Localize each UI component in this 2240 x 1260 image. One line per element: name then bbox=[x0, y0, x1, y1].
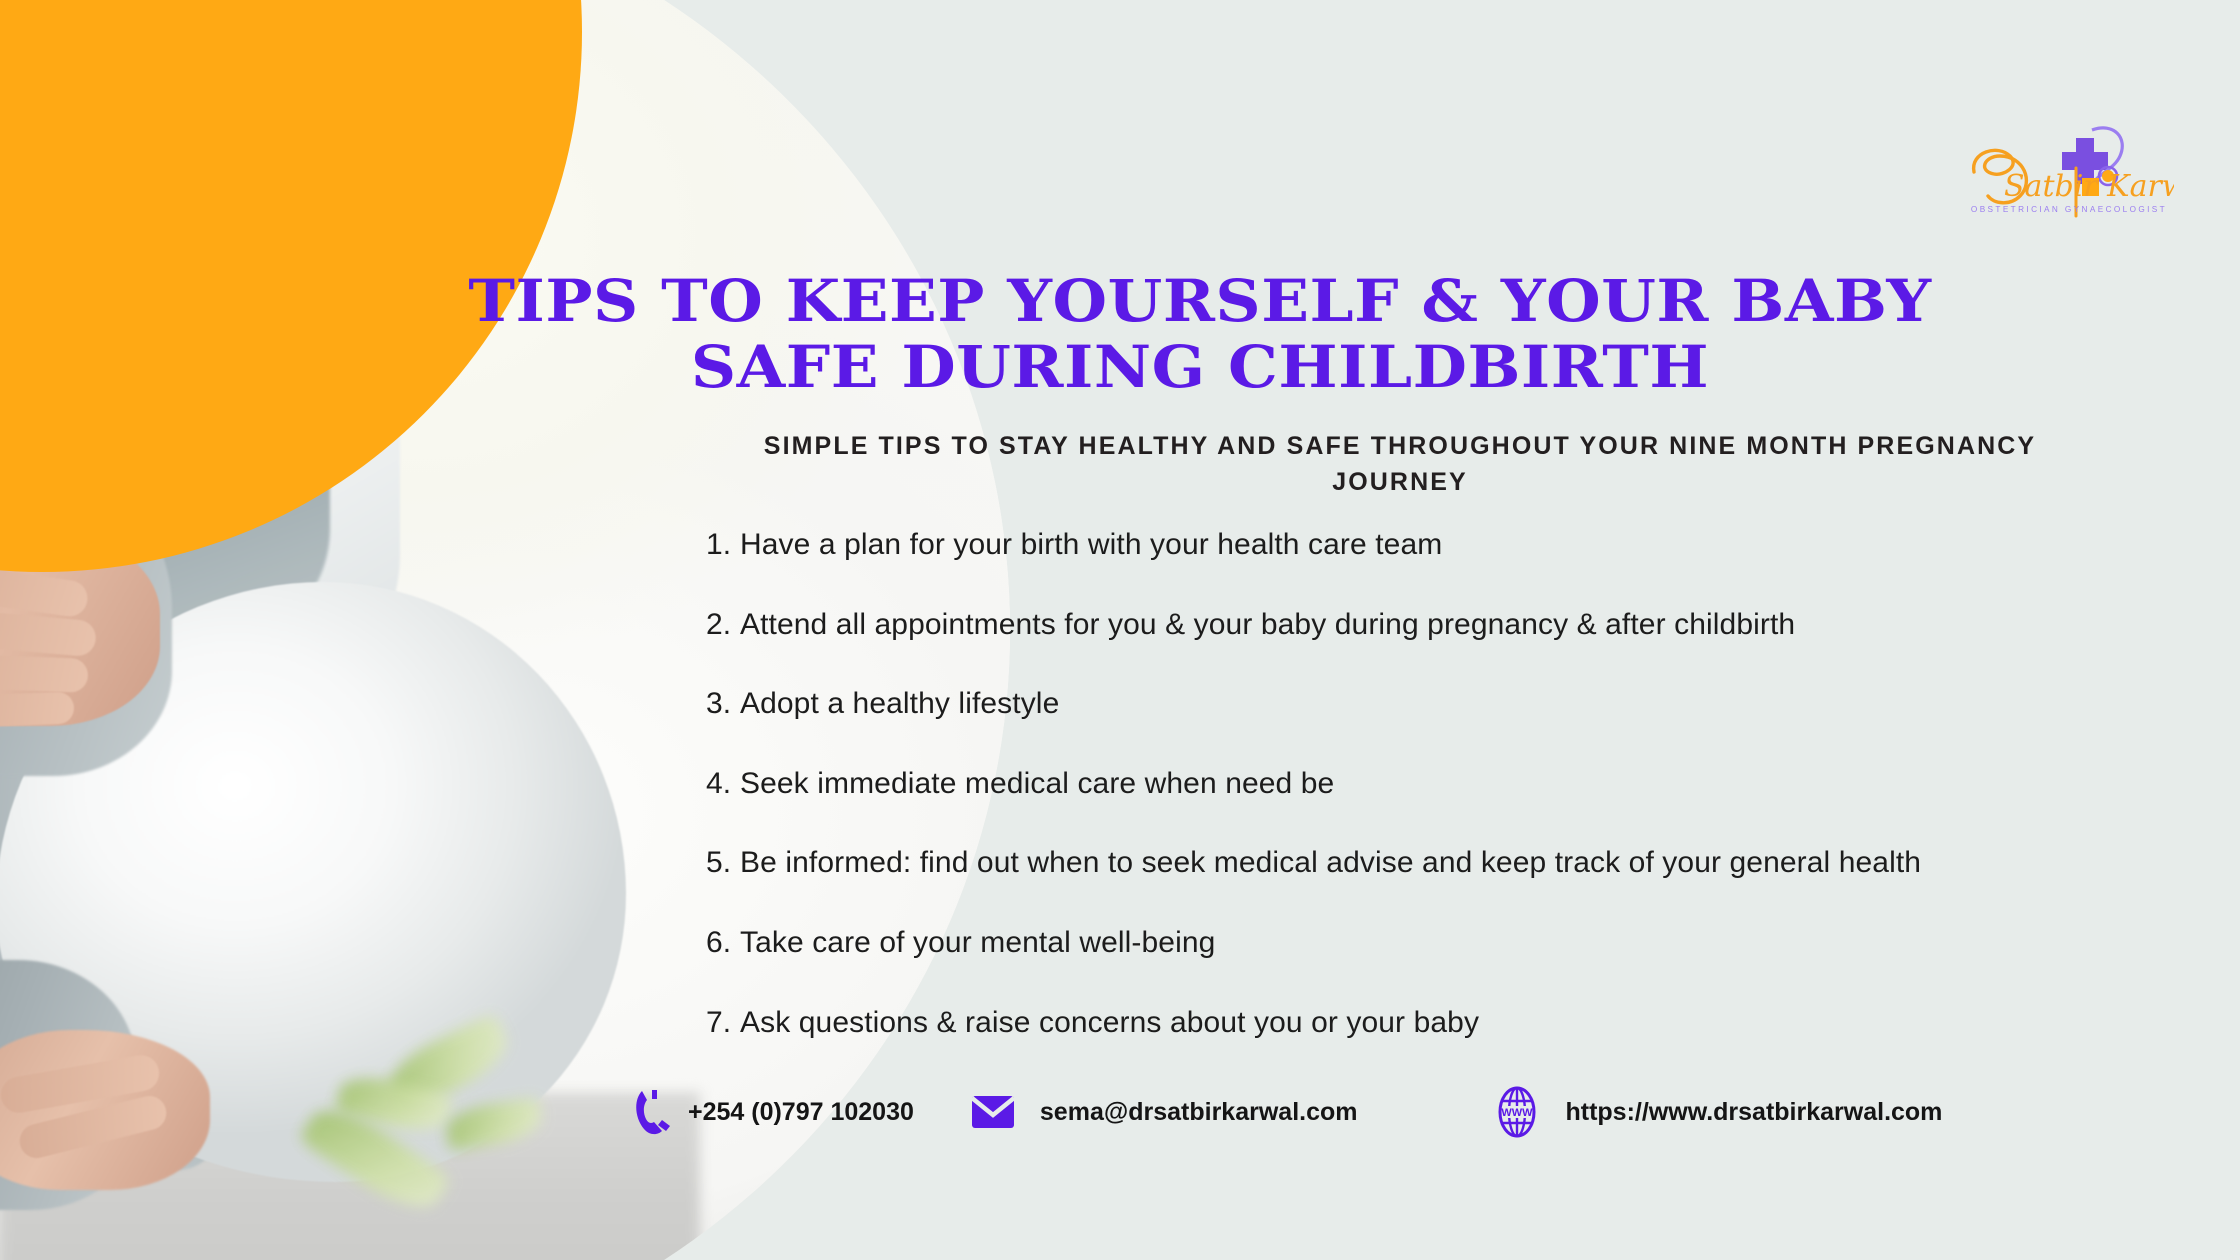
list-item: Take care of your mental well-being bbox=[706, 920, 2026, 966]
phone-icon bbox=[630, 1087, 674, 1137]
photo-finger bbox=[0, 653, 89, 693]
list-item: Seek immediate medical care when need be bbox=[706, 761, 2026, 807]
logo-brand-name: Satbir Karwal bbox=[2004, 169, 2174, 204]
page-title: TIPS TO KEEP YOURSELF & YOUR BABY SAFE D… bbox=[379, 268, 2021, 400]
contact-bar: +254 (0)797 102030 sema@drsatbirkarwal.c… bbox=[630, 1086, 1942, 1138]
contact-website[interactable]: WWW https://www.drsatbirkarwal.com bbox=[1491, 1086, 1942, 1138]
website-url: https://www.drsatbirkarwal.com bbox=[1565, 1098, 1942, 1127]
tips-list: Have a plan for your birth with your hea… bbox=[706, 522, 2026, 1079]
phone-number: +254 (0)797 102030 bbox=[688, 1098, 914, 1127]
list-item: Ask questions & raise concerns about you… bbox=[706, 1000, 2026, 1046]
contact-email[interactable]: sema@drsatbirkarwal.com bbox=[968, 1087, 1358, 1137]
photo-finger bbox=[0, 692, 75, 729]
envelope-icon bbox=[968, 1087, 1018, 1137]
brand-logo: Satbir Karwal OBSTETRICIAN GYNAECOLOGIST bbox=[1964, 112, 2174, 222]
globe-www-label: WWW bbox=[1502, 1107, 1534, 1119]
email-address: sema@drsatbirkarwal.com bbox=[1040, 1098, 1358, 1127]
list-item: Attend all appointments for you & your b… bbox=[706, 602, 2026, 648]
list-item: Adopt a healthy lifestyle bbox=[706, 681, 2026, 727]
poster-canvas: Satbir Karwal OBSTETRICIAN GYNAECOLOGIST… bbox=[0, 0, 2240, 1260]
list-item: Have a plan for your birth with your hea… bbox=[706, 522, 2026, 568]
globe-icon: WWW bbox=[1491, 1086, 1543, 1138]
list-item: Be informed: find out when to seek medic… bbox=[706, 840, 2026, 886]
contact-phone[interactable]: +254 (0)797 102030 bbox=[630, 1087, 914, 1137]
page-subtitle: SIMPLE TIPS TO STAY HEALTHY AND SAFE THR… bbox=[700, 428, 2100, 501]
logo-tagline: OBSTETRICIAN GYNAECOLOGIST bbox=[1971, 205, 2167, 214]
